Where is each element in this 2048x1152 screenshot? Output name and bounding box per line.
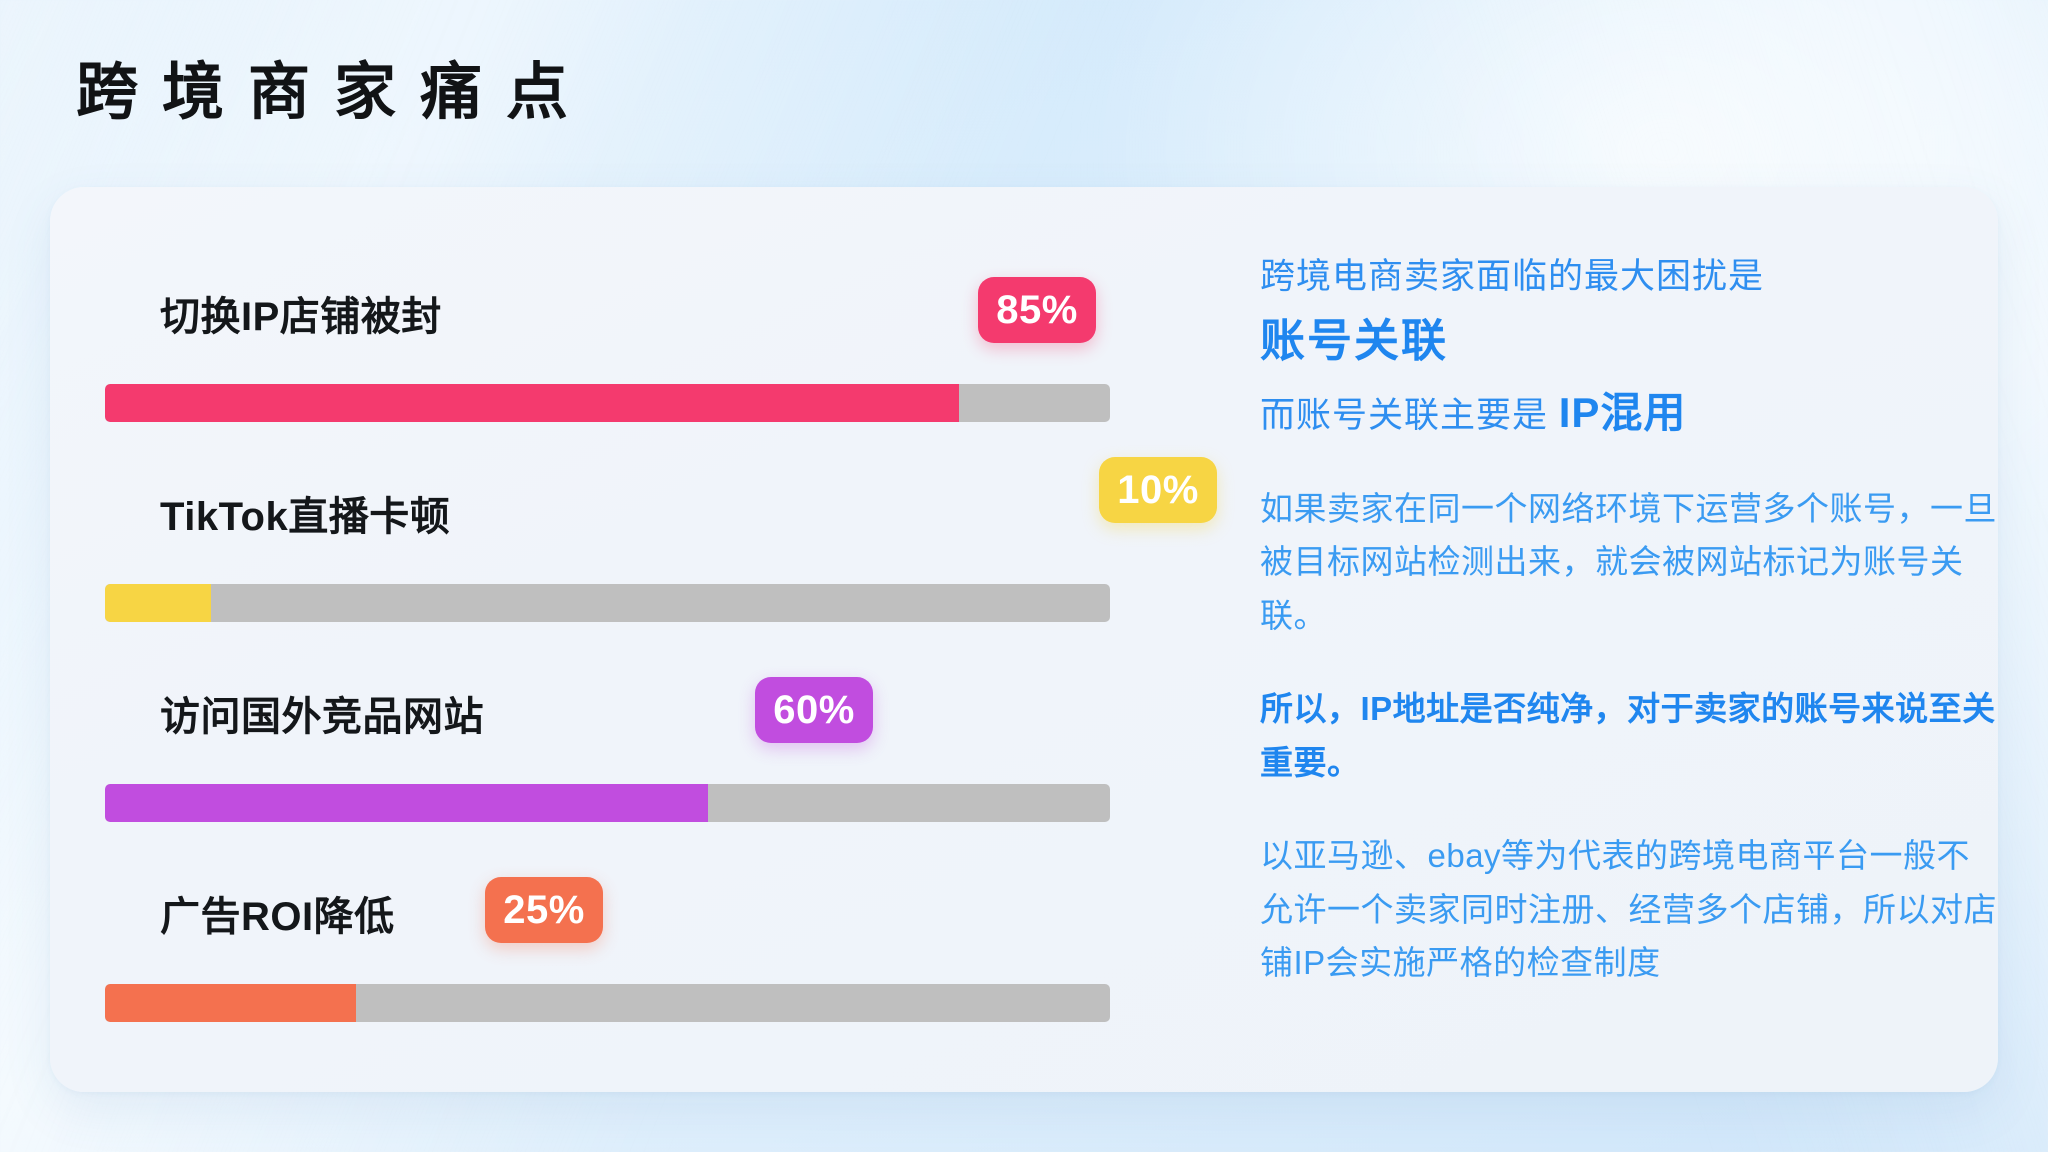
bar-label: 切换IP店铺被封 [160,297,442,337]
bar-fill [105,984,356,1022]
page-title: 跨境商家痛点 [76,62,592,124]
bar-row: 广告ROI降低 25% [105,877,1165,1077]
bar-row: TikTok直播卡顿 10% [105,477,1165,677]
bar-chart: 切换IP店铺被封 85% TikTok直播卡顿 10% 访问国外竞品网站 60%… [105,277,1165,1077]
content-card: 切换IP店铺被封 85% TikTok直播卡顿 10% 访问国外竞品网站 60%… [50,187,1998,1092]
bar-value-badge: 60% [755,677,873,743]
paragraph-3: 以亚马逊、ebay等为代表的跨境电商平台一般不允许一个卖家同时注册、经营多个店铺… [1260,829,2000,989]
bar-label: TikTok直播卡顿 [160,497,450,537]
bar-track [105,584,1110,622]
description-panel: 跨境电商卖家面临的最大困扰是 账号关联 而账号关联主要是 IP混用 如果卖家在同… [1260,252,2000,989]
subline-text: 而账号关联主要是 IP混用 [1260,383,2000,444]
bar-track [105,384,1110,422]
lead-text: 跨境电商卖家面临的最大困扰是 [1260,252,2000,302]
paragraph-2: 所以，IP地址是否纯净，对于卖家的账号来说至关重要。 [1260,682,2000,789]
bar-row: 切换IP店铺被封 85% [105,277,1165,477]
subline-prefix: 而账号关联主要是 [1260,396,1559,435]
bar-fill [105,384,959,422]
subline-emphasis: IP混用 [1559,389,1687,436]
bar-value-badge: 85% [978,277,1096,343]
bar-row: 访问国外竞品网站 60% [105,677,1165,877]
bar-fill [105,784,708,822]
bar-label: 访问国外竞品网站 [160,697,484,737]
bar-track [105,984,1110,1022]
bar-value-badge: 10% [1099,457,1217,523]
bar-track [105,784,1110,822]
headline-text: 账号关联 [1260,308,2000,373]
bar-value-badge: 25% [485,877,603,943]
bar-label: 广告ROI降低 [160,897,395,937]
paragraph-1: 如果卖家在同一个网络环境下运营多个账号，一旦被目标网站检测出来，就会被网站标记为… [1260,482,2000,642]
bar-fill [105,584,211,622]
